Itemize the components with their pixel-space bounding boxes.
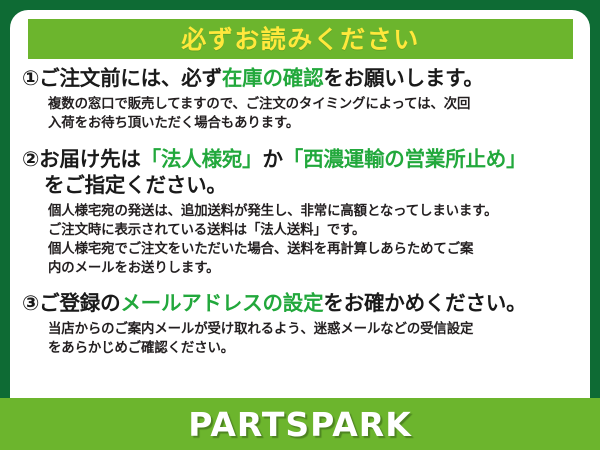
header-banner: 必ずお読みください — [28, 19, 573, 59]
section-3-detail: 当店からのご案内メールが受け取れるよう、迷惑メールなどの受信設定 をあらかじめご… — [48, 320, 576, 358]
section-3-heading-highlight: メールアドレスの設定 — [120, 291, 323, 315]
section-3-marker: ③ — [22, 291, 39, 315]
section-1-heading-highlight: 在庫の確認 — [222, 66, 324, 90]
section-2-heading-after: をご指定ください。 — [44, 173, 227, 197]
section-1-heading: ①ご注文前には、必ず在庫の確認をお願いします。 — [22, 66, 576, 92]
section-2-marker: ② — [22, 147, 39, 171]
section-2-heading-highlight-2: 「西濃運輸の営業所止め」 — [283, 147, 527, 171]
section-1-heading-before: ご注文前には、必ず — [39, 66, 222, 90]
section-3-heading: ③ご登録のメールアドレスの設定をお確かめください。 — [22, 291, 576, 317]
section-2-heading-highlight: 「法人様宛」 — [141, 147, 263, 171]
section-1-heading-after: をお願いします。 — [323, 66, 483, 90]
section-3-heading-after: をお確かめください。 — [323, 291, 526, 315]
section-1-marker: ① — [22, 66, 39, 90]
section-2-heading-before: お届け先は — [39, 147, 141, 171]
page-title: 必ずお読みください — [181, 27, 420, 52]
notice-inner-panel: 必ずお読みください ①ご注文前には、必ず在庫の確認をお願いします。 複数の窓口で… — [10, 10, 590, 440]
notice-section-2: ②お届け先は「法人様宛」か「西濃運輸の営業所止め」をご指定ください。 個人様宅宛… — [22, 147, 576, 278]
notice-card: 必ずお読みください ①ご注文前には、必ず在庫の確認をお願いします。 複数の窓口で… — [0, 0, 600, 450]
section-3-heading-before: ご登録の — [39, 291, 120, 315]
section-2-detail: 個人様宅宛の発送は、追加送料が発生し、非常に高額となってしまいます。 ご注文時に… — [48, 202, 576, 278]
brand-logo: PARTSPARK — [188, 408, 412, 441]
notice-section-1: ①ご注文前には、必ず在庫の確認をお願いします。 複数の窓口で販売してますので、ご… — [22, 66, 576, 133]
notice-body: ①ご注文前には、必ず在庫の確認をお願いします。 複数の窓口で販売してますので、ご… — [10, 66, 590, 360]
section-1-detail: 複数の窓口で販売してますので、ご注文のタイミングによっては、次回 入荷をお待ち頂… — [48, 95, 576, 133]
section-2-heading: ②お届け先は「法人様宛」か「西濃運輸の営業所止め」をご指定ください。 — [22, 147, 576, 199]
notice-section-3: ③ご登録のメールアドレスの設定をお確かめください。 当店からのご案内メールが受け… — [22, 291, 576, 358]
section-2-heading-middle: か — [262, 147, 282, 171]
footer-band: PARTSPARK — [0, 398, 600, 450]
